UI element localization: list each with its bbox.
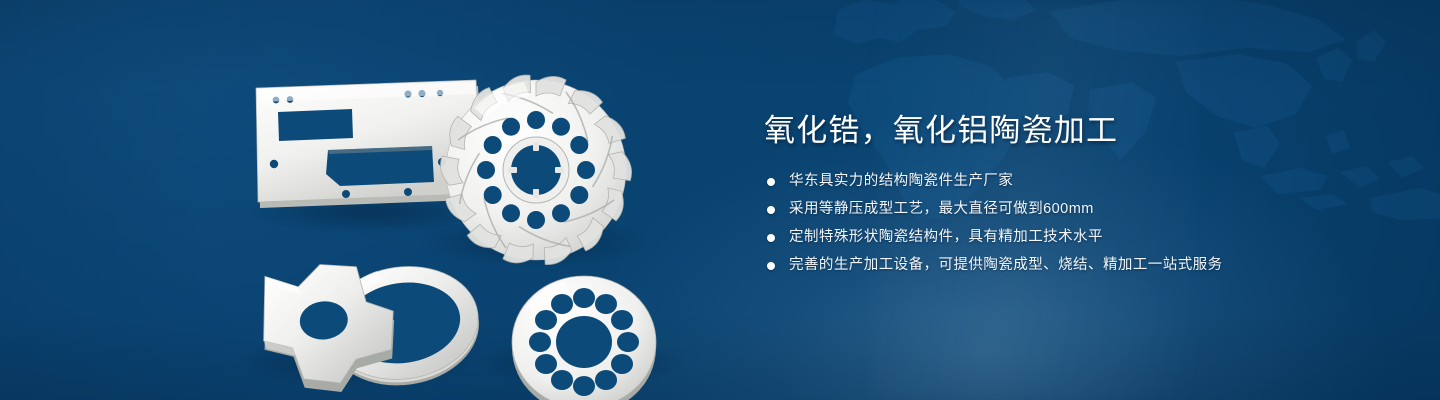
ceramic-products-image xyxy=(236,42,716,382)
bullet-dot-icon xyxy=(767,178,775,186)
bullet-dot-icon xyxy=(767,262,775,270)
bullet-dot-icon xyxy=(767,206,775,214)
banner-copy: 氧化锆，氧化铝陶瓷加工 华东具实力的结构陶瓷件生产厂家 采用等静压成型工艺，最大… xyxy=(764,108,1384,282)
list-item: 完善的生产加工设备，可提供陶瓷成型、烧结、精加工一站式服务 xyxy=(764,254,1384,277)
bullet-text: 完善的生产加工设备，可提供陶瓷成型、烧结、精加工一站式服务 xyxy=(789,254,1223,277)
bullet-dot-icon xyxy=(767,234,775,242)
list-item: 华东具实力的结构陶瓷件生产厂家 xyxy=(764,170,1384,193)
bullet-text: 采用等静压成型工艺，最大直径可做到600mm xyxy=(789,198,1094,221)
promo-banner: 氧化锆，氧化铝陶瓷加工 华东具实力的结构陶瓷件生产厂家 采用等静压成型工艺，最大… xyxy=(0,0,1440,400)
bullet-text: 定制特殊形状陶瓷结构件，具有精加工技术水平 xyxy=(789,226,1103,249)
list-item: 定制特殊形状陶瓷结构件，具有精加工技术水平 xyxy=(764,226,1384,249)
list-item: 采用等静压成型工艺，最大直径可做到600mm xyxy=(764,198,1384,221)
bullet-text: 华东具实力的结构陶瓷件生产厂家 xyxy=(789,170,1013,193)
banner-headline: 氧化锆，氧化铝陶瓷加工 xyxy=(764,108,1384,154)
banner-bullet-list: 华东具实力的结构陶瓷件生产厂家 采用等静压成型工艺，最大直径可做到600mm 定… xyxy=(764,170,1384,277)
ceramic-perforated-disc-part xyxy=(512,276,656,400)
